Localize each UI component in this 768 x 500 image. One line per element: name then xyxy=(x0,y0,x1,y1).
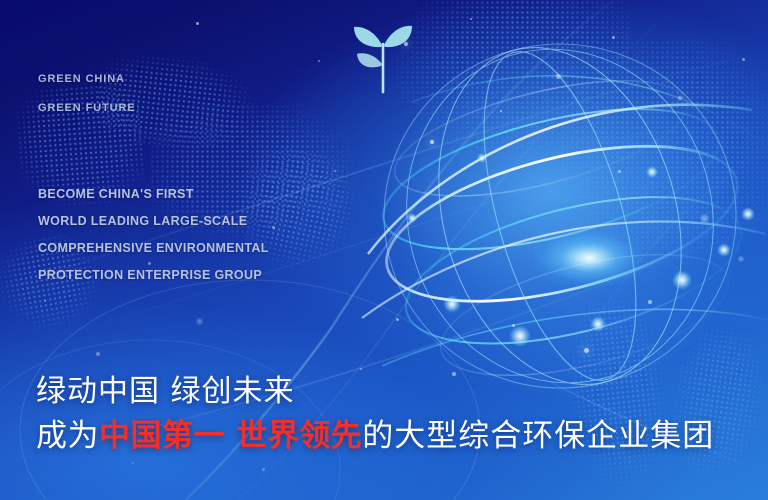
globe-core-glow xyxy=(534,230,644,286)
eyebrow-green-china: GREEN CHINA xyxy=(38,73,125,85)
headline-primary: 绿动中国 绿创未来 xyxy=(36,366,295,410)
headline-suffix: 的大型综合环保企业集团 xyxy=(362,418,714,454)
subline-protection-enterprise-group: PROTECTION ENTERPRISE GROUP xyxy=(38,268,262,282)
eyebrow-green-future: GREEN FUTURE xyxy=(38,102,136,114)
subline-become-chinas-first: BECOME CHINA'S FIRST xyxy=(38,187,194,201)
globe-rings xyxy=(352,18,768,418)
headline-prefix: 成为 xyxy=(36,418,99,454)
wireframe-globe xyxy=(352,18,768,418)
subline-world-leading-large-scale: WORLD LEADING LARGE-SCALE xyxy=(38,214,247,228)
headline-highlight: 中国第一 世界领先 xyxy=(99,418,362,454)
headline-secondary: 成为中国第一 世界领先的大型综合环保企业集团 xyxy=(36,410,714,455)
hero-banner: GREEN CHINA GREEN FUTURE BECOME CHINA'S … xyxy=(0,0,768,500)
subline-comprehensive-environmental: COMPREHENSIVE ENVIRONMENTAL xyxy=(38,241,269,255)
green-sprout-icon xyxy=(352,18,414,94)
